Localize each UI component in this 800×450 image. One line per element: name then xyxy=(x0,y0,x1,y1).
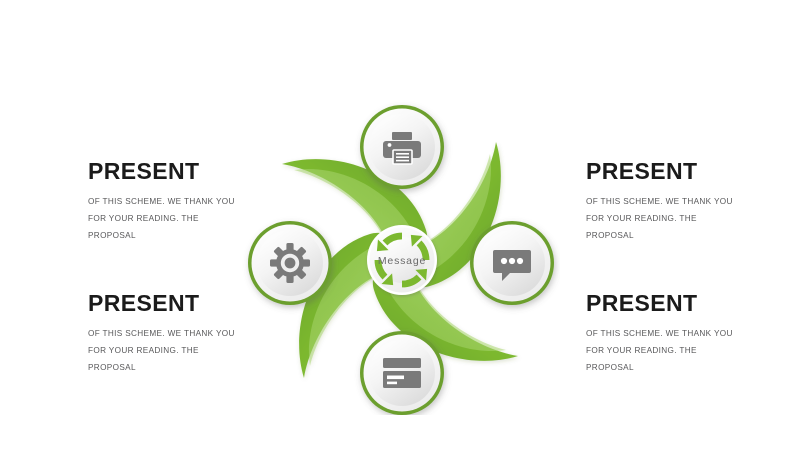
text-block-bottom-right: PRESENT OF THIS SCHEME. WE THANK YOU FOR… xyxy=(586,292,800,376)
node-top[interactable] xyxy=(360,105,444,189)
node-right[interactable] xyxy=(470,221,554,305)
node-left[interactable] xyxy=(248,221,332,305)
text-block-title: PRESENT xyxy=(586,292,800,315)
center-label: Message xyxy=(378,255,426,267)
node-bottom[interactable] xyxy=(360,331,444,415)
credit-card-icon xyxy=(383,358,421,388)
pinwheel-diagram: Message xyxy=(240,85,560,415)
gear-icon xyxy=(270,243,310,283)
text-block-title: PRESENT xyxy=(586,160,800,183)
text-block-body: OF THIS SCHEME. WE THANK YOU FOR YOUR RE… xyxy=(586,194,800,244)
text-block-top-right: PRESENT OF THIS SCHEME. WE THANK YOU FOR… xyxy=(586,160,800,244)
slide-canvas: PRESENT OF THIS SCHEME. WE THANK YOU FOR… xyxy=(0,0,800,450)
text-block-body: OF THIS SCHEME. WE THANK YOU FOR YOUR RE… xyxy=(586,326,800,376)
